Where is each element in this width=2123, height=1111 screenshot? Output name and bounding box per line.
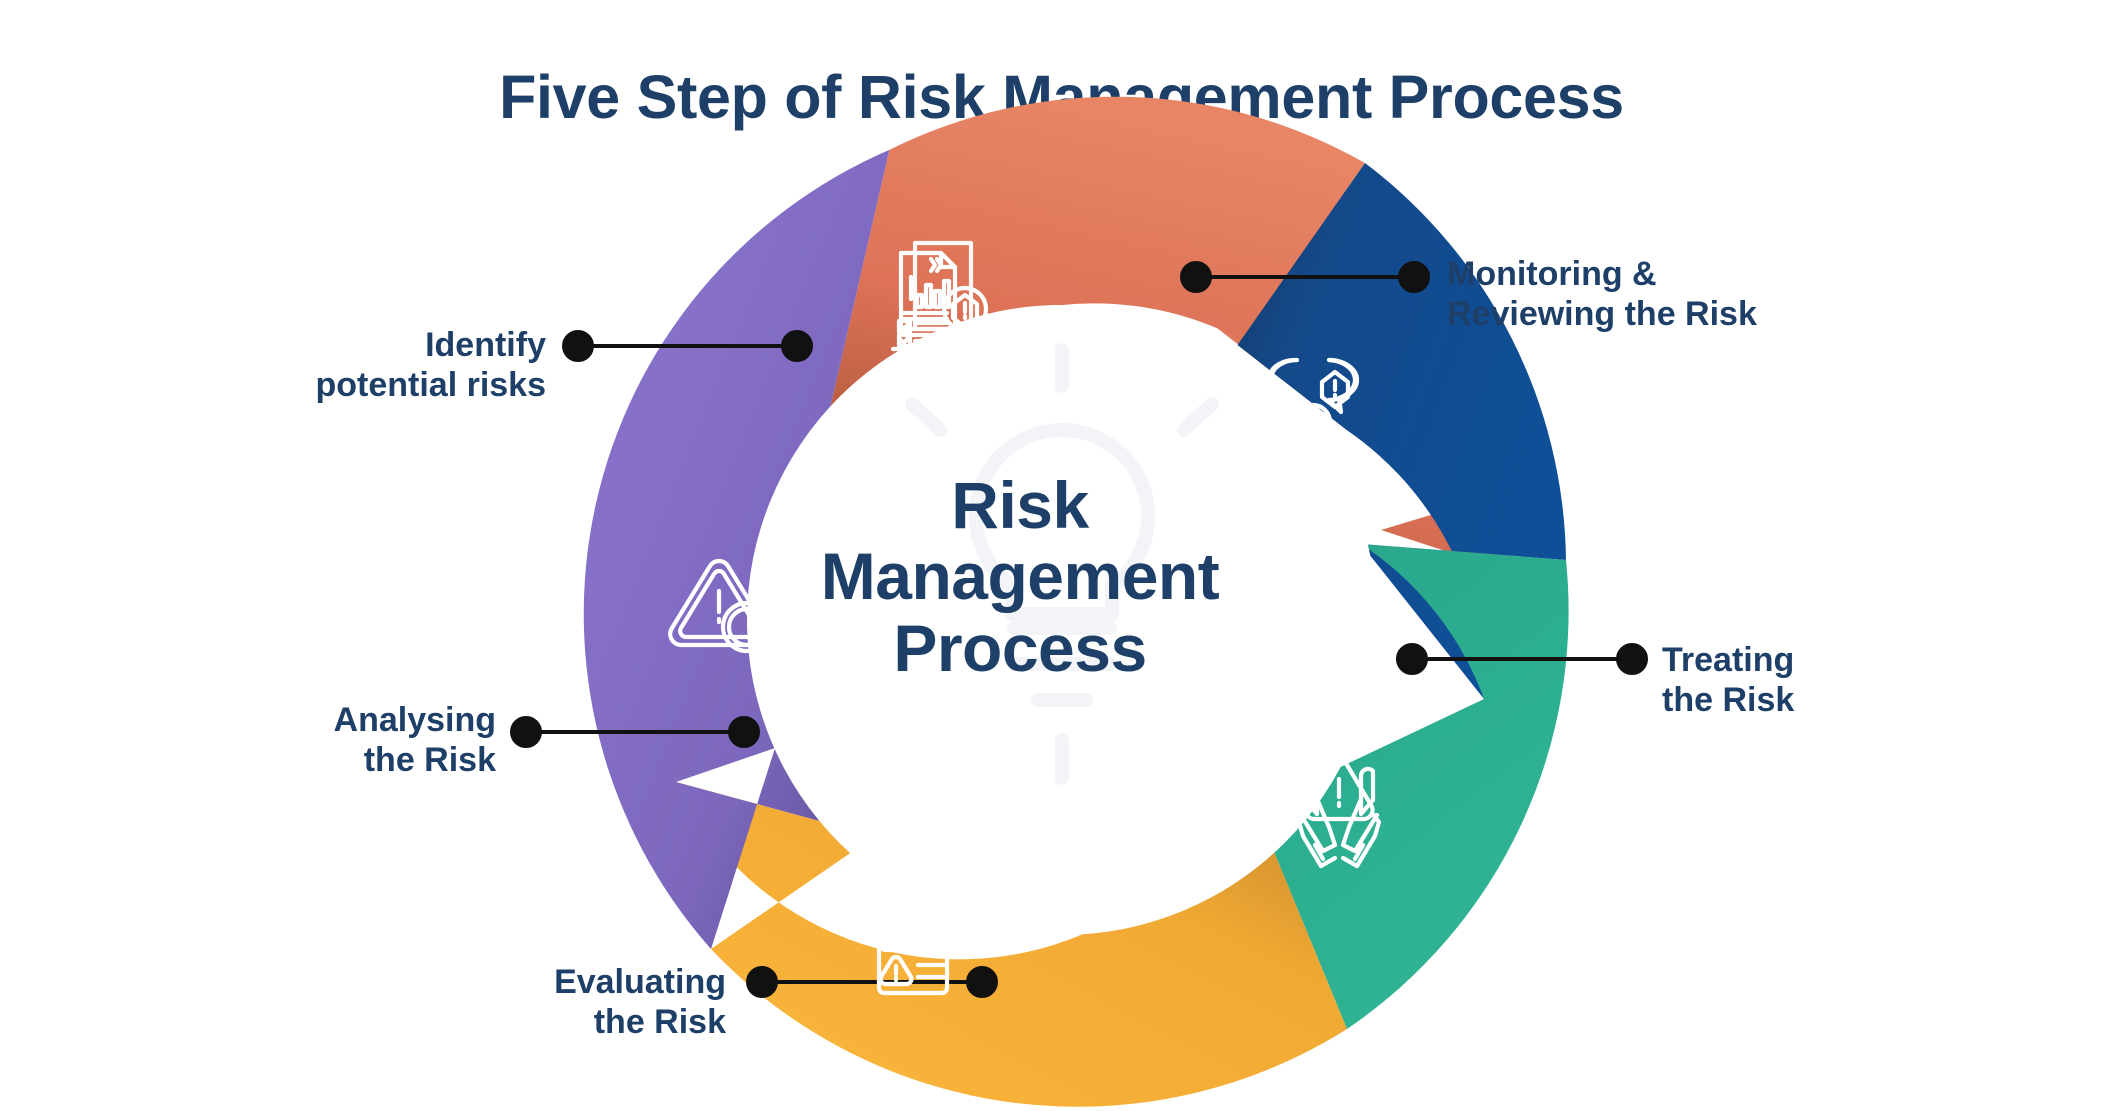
risk-cycle-diagram: Risk Management Process Monitoring & Rev… (0, 0, 2123, 1111)
label-monitoring-reviewing-the-risk[interactable]: Monitoring & Reviewing the Risk (1447, 254, 1757, 335)
center-title-line1: Risk (795, 470, 1245, 541)
center-title-line3: Process (795, 613, 1245, 684)
label-evaluating-the-risk[interactable]: Evaluating the Risk (0, 962, 726, 1043)
label-analysing-the-risk[interactable]: Analysing the Risk (0, 700, 496, 781)
label-identify-potential-risks[interactable]: Identify potential risks (0, 325, 546, 406)
label-treating-the-risk[interactable]: Treating the Risk (1662, 640, 1794, 721)
center-title-line2: Management (795, 541, 1245, 612)
center-title: Risk Management Process (795, 470, 1245, 684)
